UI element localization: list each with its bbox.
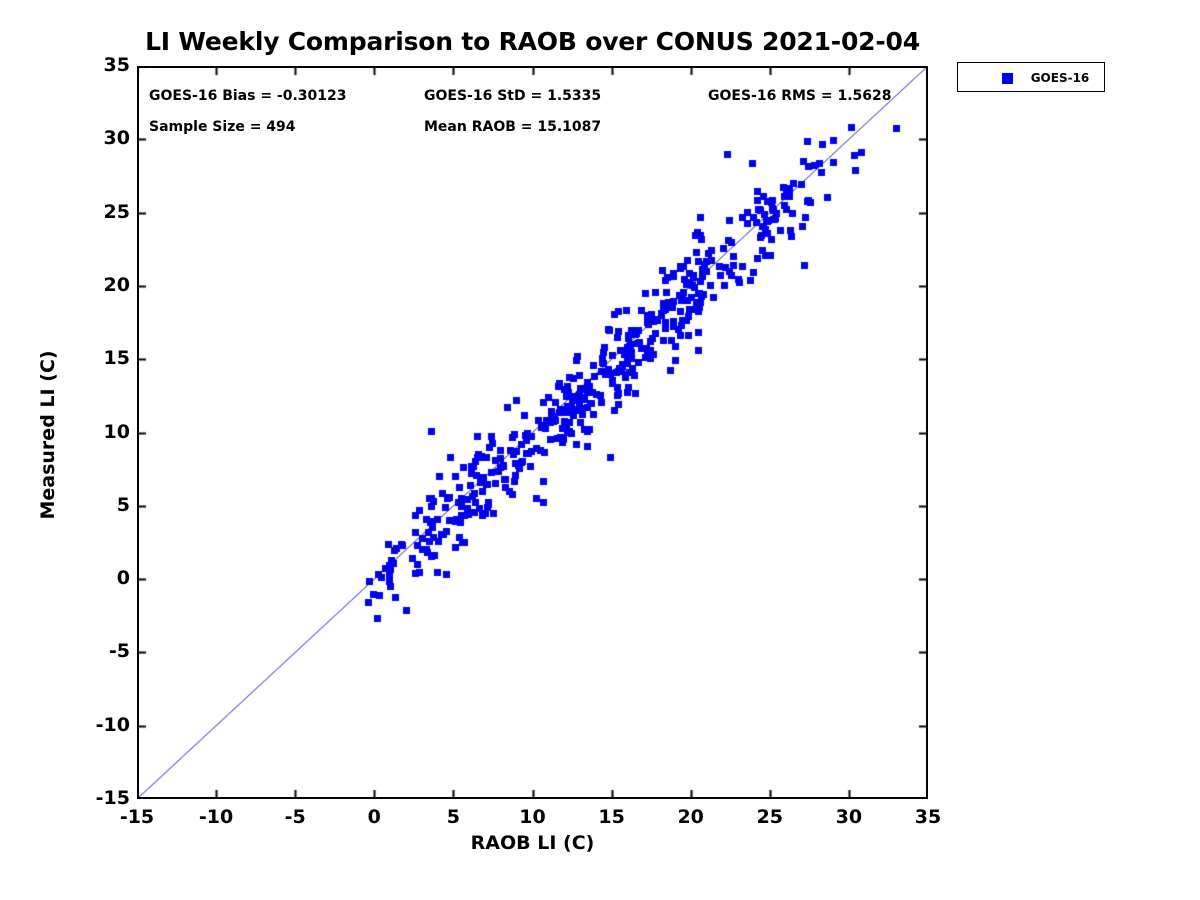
chart-figure: LI Weekly Comparison to RAOB over CONUS … <box>0 0 1200 900</box>
x-tick-label: 15 <box>572 808 652 827</box>
y-tick-label: -10 <box>78 716 130 735</box>
y-tick-label: 5 <box>78 496 130 515</box>
legend-label-goes-16: GOES-16 <box>1022 71 1098 85</box>
y-tick-label: -5 <box>78 642 130 661</box>
x-tick-label: 20 <box>651 808 731 827</box>
x-tick-label: -5 <box>255 808 335 827</box>
y-tick-label: 20 <box>78 276 130 295</box>
x-tick-label: 10 <box>493 808 573 827</box>
y-tick-label: 35 <box>78 56 130 75</box>
y-tick-label: 0 <box>78 569 130 588</box>
y-axis-tick-labels: 35302520151050-5-10-15 <box>70 0 130 900</box>
x-tick-label: -10 <box>176 808 256 827</box>
y-tick-label: 15 <box>78 349 130 368</box>
x-tick-label: 25 <box>730 808 810 827</box>
y-tick-label: 30 <box>78 129 130 148</box>
x-tick-label: 5 <box>413 808 493 827</box>
page-title: LI Weekly Comparison to RAOB over CONUS … <box>137 27 928 56</box>
x-tick-label: 0 <box>334 808 414 827</box>
y-tick-label: 25 <box>78 203 130 222</box>
x-tick-label: -15 <box>97 808 177 827</box>
y-axis-title: Measured LI (C) <box>37 295 59 575</box>
plot-frame <box>137 66 928 799</box>
y-tick-label: 10 <box>78 423 130 442</box>
x-axis-title: RAOB LI (C) <box>137 832 928 854</box>
x-tick-label: 30 <box>809 808 889 827</box>
legend-swatch-goes-16 <box>1002 73 1013 84</box>
legend: GOES-16 <box>957 62 1105 92</box>
x-tick-label: 35 <box>888 808 968 827</box>
